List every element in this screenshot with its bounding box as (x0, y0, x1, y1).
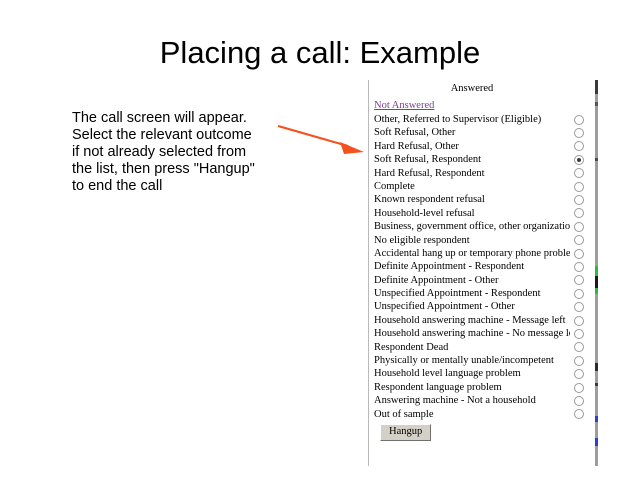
list-item[interactable]: Household answering machine - Message le… (373, 314, 587, 327)
option-label: Answering machine - Not a household (374, 394, 570, 407)
arrow-head (340, 142, 364, 154)
caption-line: if not already selected from (72, 144, 287, 161)
page-title: Placing a call: Example (0, 35, 640, 71)
option-label: Respondent Dead (374, 341, 570, 354)
radio-button[interactable] (574, 195, 584, 205)
scrollbar-mark (595, 438, 598, 446)
option-label: Definite Appointment - Other (374, 274, 570, 287)
option-label: Complete (374, 180, 570, 193)
option-label: Household answering machine - No message… (374, 327, 570, 340)
scrollbar-mark (595, 383, 598, 386)
radio-button[interactable] (574, 383, 584, 393)
radio-button[interactable] (574, 208, 584, 218)
list-item[interactable]: Respondent language problem (373, 381, 587, 394)
radio-button[interactable] (574, 155, 584, 165)
right-scrollbar-strip[interactable] (595, 80, 598, 466)
radio-button[interactable] (574, 409, 584, 419)
radio-button[interactable] (574, 262, 584, 272)
list-item[interactable]: Soft Refusal, Respondent (373, 153, 587, 166)
call-screen-screenshot: Answered Not Answered Other, Referred to… (368, 80, 597, 466)
radio-button[interactable] (574, 168, 584, 178)
scrollbar-mark (595, 80, 598, 94)
radio-button[interactable] (574, 249, 584, 259)
radio-button[interactable] (574, 356, 584, 366)
option-label: Respondent language problem (374, 381, 570, 394)
radio-button[interactable] (574, 329, 584, 339)
list-item[interactable]: Accidental hang up or temporary phone pr… (373, 247, 587, 260)
call-outcome-list: Other, Referred to Supervisor (Eligible)… (373, 113, 587, 421)
list-item[interactable]: No eligible respondent (373, 234, 587, 247)
option-label: Household answering machine - Message le… (374, 314, 570, 327)
radio-button[interactable] (574, 396, 584, 406)
pointer-arrow (276, 118, 368, 164)
radio-button[interactable] (574, 235, 584, 245)
list-item[interactable]: Unspecified Appointment - Respondent (373, 287, 587, 300)
radio-button[interactable] (574, 222, 584, 232)
list-item[interactable]: Hard Refusal, Respondent (373, 167, 587, 180)
list-item[interactable]: Physically or mentally unable/incompeten… (373, 354, 587, 367)
radio-button[interactable] (574, 182, 584, 192)
radio-button[interactable] (574, 302, 584, 312)
option-label: Unspecified Appointment - Respondent (374, 287, 570, 300)
not-answered-link[interactable]: Not Answered (374, 99, 434, 112)
list-item[interactable]: Out of sample (373, 408, 587, 421)
option-label: Unspecified Appointment - Other (374, 300, 570, 313)
radio-button[interactable] (574, 342, 584, 352)
option-label: Soft Refusal, Other (374, 126, 570, 139)
scrollbar-mark (595, 363, 598, 371)
option-label: Business, government office, other organ… (374, 220, 570, 233)
list-item[interactable]: Household-level refusal (373, 207, 587, 220)
option-label: Household level language problem (374, 367, 570, 380)
option-label: No eligible respondent (374, 234, 570, 247)
option-label: Household-level refusal (374, 207, 570, 220)
option-label: Accidental hang up or temporary phone pr… (374, 247, 570, 260)
radio-button[interactable] (574, 128, 584, 138)
scrollbar-mark (595, 102, 598, 106)
arrow-shaft (278, 126, 348, 146)
radio-button[interactable] (574, 115, 584, 125)
caption-text-block: The call screen will appear. Select the … (72, 110, 287, 195)
scrollbar-mark (595, 288, 598, 294)
list-item[interactable]: Known respondent refusal (373, 193, 587, 206)
slide-canvas: Placing a call: Example The call screen … (0, 0, 640, 480)
option-label: Hard Refusal, Other (374, 140, 570, 153)
list-item[interactable]: Unspecified Appointment - Other (373, 300, 587, 313)
caption-line: The call screen will appear. (72, 110, 287, 127)
list-item[interactable]: Complete (373, 180, 587, 193)
option-label: Other, Referred to Supervisor (Eligible) (374, 113, 570, 126)
option-label: Soft Refusal, Respondent (374, 153, 570, 166)
list-item[interactable]: Respondent Dead (373, 341, 587, 354)
radio-button[interactable] (574, 275, 584, 285)
answered-header: Answered (373, 80, 587, 95)
list-item[interactable]: Definite Appointment - Other (373, 274, 587, 287)
option-label: Definite Appointment - Respondent (374, 260, 570, 273)
scrollbar-mark (595, 266, 598, 276)
caption-line: Select the relevant outcome (72, 127, 287, 144)
radio-button[interactable] (574, 289, 584, 299)
radio-button[interactable] (574, 369, 584, 379)
option-label: Hard Refusal, Respondent (374, 167, 570, 180)
not-answered-row: Not Answered (373, 95, 587, 113)
list-item[interactable]: Household level language problem (373, 367, 587, 380)
list-item[interactable]: Soft Refusal, Other (373, 126, 587, 139)
list-item[interactable]: Answering machine - Not a household (373, 394, 587, 407)
list-item[interactable]: Hard Refusal, Other (373, 140, 587, 153)
scrollbar-mark (595, 158, 598, 161)
option-label: Known respondent refusal (374, 193, 570, 206)
radio-button[interactable] (574, 141, 584, 151)
list-item[interactable]: Other, Referred to Supervisor (Eligible) (373, 113, 587, 126)
list-item[interactable]: Definite Appointment - Respondent (373, 260, 587, 273)
radio-button[interactable] (574, 316, 584, 326)
caption-line: the list, then press "Hangup" (72, 161, 287, 178)
option-label: Physically or mentally unable/incompeten… (374, 354, 570, 367)
scrollbar-mark (595, 276, 598, 288)
list-item[interactable]: Business, government office, other organ… (373, 220, 587, 233)
option-label: Out of sample (374, 408, 570, 421)
scrollbar-mark (595, 416, 598, 422)
caption-line: to end the call (72, 178, 287, 195)
list-item[interactable]: Household answering machine - No message… (373, 327, 587, 340)
hangup-button[interactable]: Hangup (380, 424, 431, 441)
